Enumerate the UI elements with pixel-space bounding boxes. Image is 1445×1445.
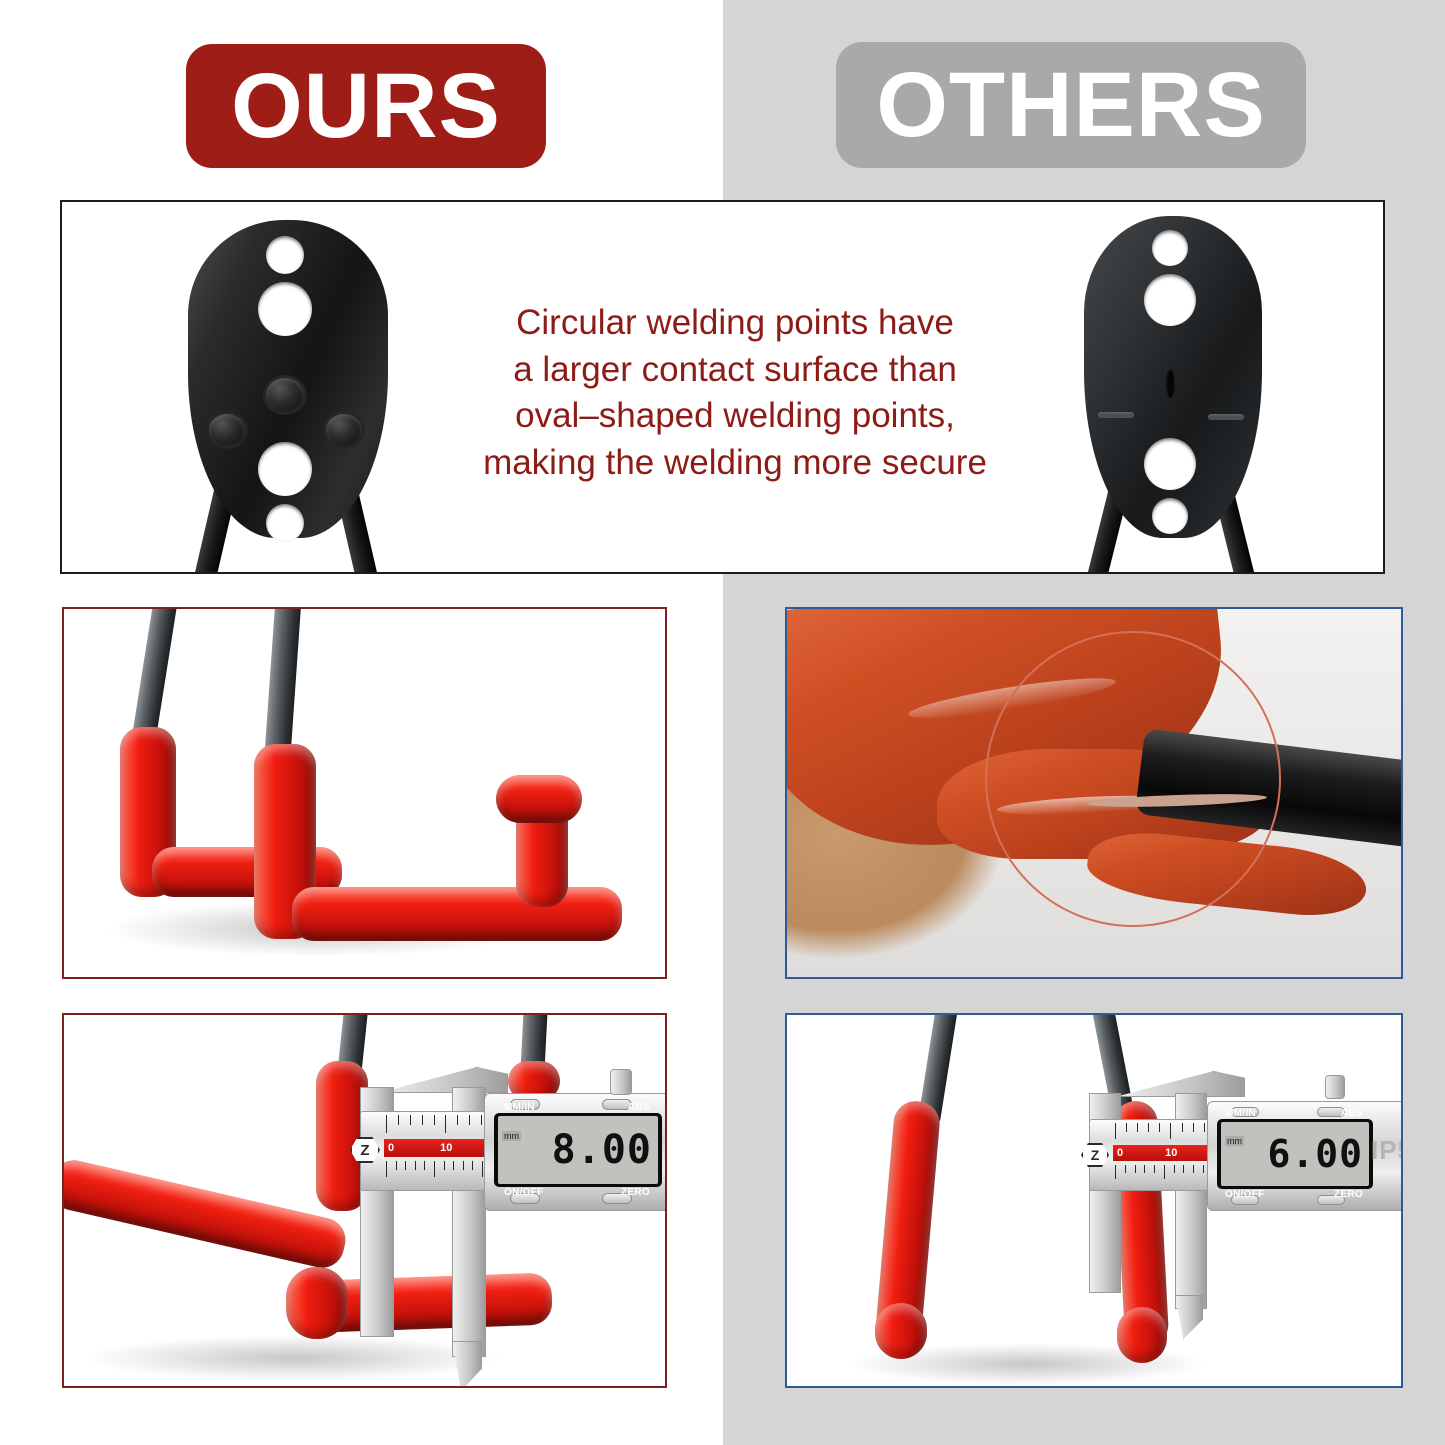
others-hook-left-tip-cap — [875, 1303, 927, 1359]
ours-caliper-lcd: MM/IN ABS mm 8.00 ON/OFF ZERO — [494, 1113, 662, 1187]
others-welding-slit-right — [1208, 414, 1244, 420]
ours-coating-panel — [62, 607, 667, 979]
headline-line-2: a larger contact surface than — [450, 347, 1020, 394]
others-badge: OTHERS — [836, 42, 1306, 168]
defect-circle-marker — [985, 631, 1281, 927]
ours-hook-front-tip-elbow — [496, 775, 582, 823]
ours-lcd-unit: mm — [502, 1131, 521, 1141]
others-badge-label: OTHERS — [876, 59, 1265, 151]
others-hex-mark-icon: Z — [1081, 1143, 1109, 1167]
headline-line-1: Circular welding points have — [450, 300, 1020, 347]
others-caliper-lower-blade — [1175, 1295, 1203, 1339]
others-mounting-plate — [1074, 216, 1284, 564]
others-welding-slit-center — [1166, 368, 1175, 398]
ours-lcd-label-zero: ZERO — [621, 1187, 650, 1198]
hex-mark-icon: Z — [350, 1137, 380, 1163]
others-caliper-ip-rating: IP54 — [1371, 1135, 1403, 1166]
brand-letter: Z — [360, 1142, 369, 1159]
others-caliper-brand-logo-icon: Z — [1081, 1143, 1109, 1167]
others-plate-hole-top — [1152, 230, 1188, 266]
ours-plate-hole-upper — [258, 282, 312, 336]
others-caliper-lcd: MM/IN ABS mm 6.00 ON/OFF ZERO — [1217, 1119, 1373, 1189]
others-scale-start: 0 — [1117, 1147, 1123, 1159]
ours-measure-hook-left-horizontal — [62, 1156, 350, 1272]
others-welding-slit-left — [1098, 412, 1134, 418]
others-scale-mid: 10 — [1165, 1147, 1177, 1159]
ours-hook-front-horizontal — [292, 887, 622, 941]
others-lcd-value: 6.00 — [1267, 1132, 1369, 1176]
others-coating-panel — [785, 607, 1403, 979]
ours-plate-hole-bottom — [266, 504, 304, 542]
ours-thickness-panel: 0 10 Z MM/IN ABS mm — [62, 1013, 667, 1388]
ours-scale-start: 0 — [388, 1142, 394, 1154]
headline-line-3: oval–shaped welding points, — [450, 393, 1020, 440]
ours-lcd-label-abs: ABS — [628, 1102, 650, 1113]
ours-lcd-label-mmin: MM/IN — [504, 1102, 535, 1113]
others-lcd-label-abs: ABS — [1341, 1108, 1363, 1119]
ours-badge-label: OURS — [231, 60, 501, 152]
ours-scale-mid: 10 — [440, 1142, 452, 1154]
others-plate-hole-bottom — [1152, 498, 1188, 534]
headline-line-4: making the welding more secure — [450, 440, 1020, 487]
others-lcd-unit: mm — [1225, 1136, 1244, 1146]
ours-lcd-screen: mm 8.00 — [498, 1116, 658, 1184]
coating-separation-photo — [787, 609, 1401, 977]
headline-text: Circular welding points have a larger co… — [450, 300, 1020, 486]
caliper-brand-logo-icon: Z — [350, 1137, 380, 1163]
ours-plate-hole-lower — [258, 442, 312, 496]
others-digital-caliper: 0 10 Z MM/IN ABS mm — [1071, 1077, 1403, 1367]
ours-plate-hole-top — [266, 236, 304, 274]
ours-welding-boss-top — [266, 378, 304, 412]
ours-caliper-lower-blade — [452, 1341, 482, 1388]
ours-digital-caliper: 0 10 Z MM/IN ABS mm — [334, 1041, 667, 1371]
ours-welding-boss-left — [209, 414, 245, 446]
others-lcd-label-onoff: ON/OFF — [1225, 1189, 1265, 1200]
others-plate-hole-lower — [1144, 438, 1196, 490]
others-lcd-label-mmin: MM/IN — [1225, 1108, 1256, 1119]
welding-point-comparison-panel: Circular welding points have a larger co… — [60, 200, 1385, 574]
others-brand-letter: Z — [1091, 1147, 1100, 1163]
others-caliper-thumb-screw[interactable] — [1325, 1075, 1345, 1099]
ours-lcd-value: 8.00 — [552, 1127, 658, 1173]
others-lcd-screen: mm 6.00 — [1221, 1122, 1369, 1186]
others-thickness-panel: 0 10 Z MM/IN ABS mm — [785, 1013, 1403, 1388]
ours-caliper-thumb-screw[interactable] — [610, 1069, 632, 1095]
others-lcd-label-zero: ZERO — [1334, 1189, 1363, 1200]
others-plate-hole-upper — [1144, 274, 1196, 326]
ours-hook-front-steel-tube — [264, 607, 301, 758]
ours-mounting-plate — [174, 220, 414, 560]
ours-caliper-upper-jaw — [378, 1067, 508, 1093]
ours-badge: OURS — [186, 44, 546, 168]
ours-welding-boss-right — [326, 414, 362, 446]
infographic-root: OURS OTHERS Circular welding points have… — [0, 0, 1445, 1445]
ours-lcd-label-onoff: ON/OFF — [504, 1187, 544, 1198]
